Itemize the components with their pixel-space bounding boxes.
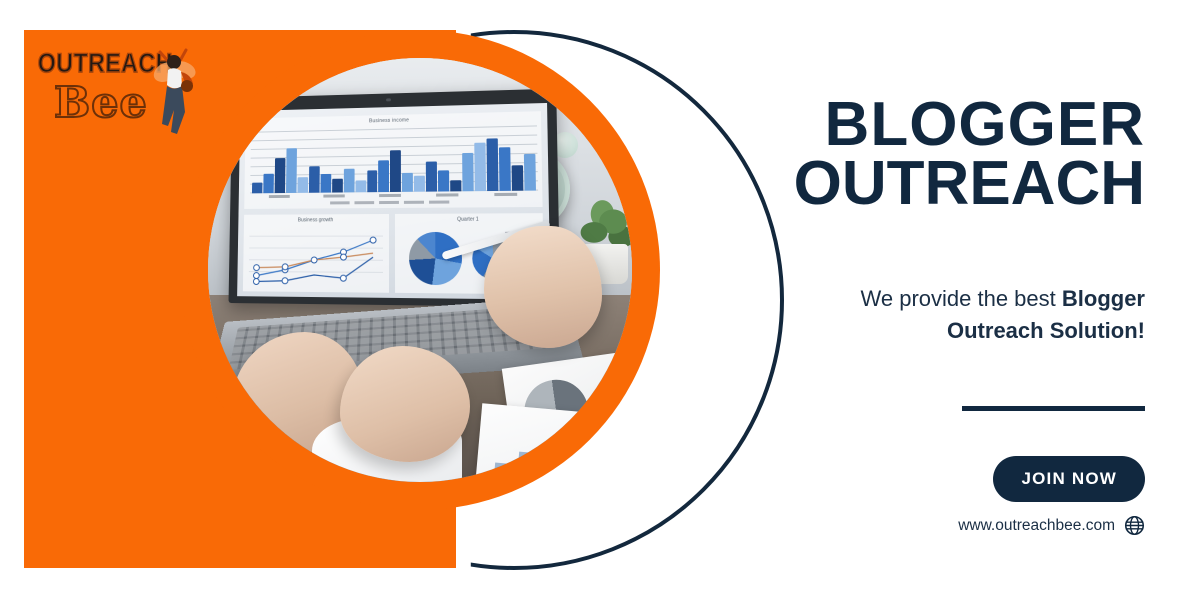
bar-chart-bar xyxy=(252,182,262,193)
promo-banner: OUTREACH Bee xyxy=(0,0,1200,600)
bar-chart-bar xyxy=(402,173,413,192)
right-hand-on-keyboard xyxy=(340,346,470,462)
bar-chart-bar xyxy=(438,170,449,191)
bar-chart-bar xyxy=(286,148,297,193)
bar-chart-bar xyxy=(499,147,511,191)
line-chart-business-growth: Business growth xyxy=(243,214,389,293)
bar-chart-bar xyxy=(309,166,320,193)
content-column: BLOGGER OUTREACH We provide the best Blo… xyxy=(760,0,1200,600)
laptop-webcam-icon xyxy=(386,98,391,101)
bar-chart-bar xyxy=(487,138,499,191)
desk-paper-report xyxy=(474,403,632,482)
bar-chart-bar xyxy=(367,170,378,192)
bar-chart-bar xyxy=(263,174,274,193)
bar-chart-bar xyxy=(297,177,308,193)
photo-scene: Business income Business growth xyxy=(208,58,632,482)
bar-chart-bar xyxy=(474,142,486,191)
bar-chart-bar xyxy=(450,180,461,191)
bar-chart-bars xyxy=(252,127,536,193)
bar-chart-bar xyxy=(332,179,343,193)
bar-chart-bar xyxy=(390,150,401,192)
bar-chart-legend xyxy=(244,200,542,209)
bar-chart-business-income: Business income xyxy=(244,111,542,209)
bar-chart-bar xyxy=(355,180,366,192)
divider xyxy=(962,406,1145,411)
join-now-button[interactable]: JOIN NOW xyxy=(993,456,1145,502)
website-url: www.outreachbee.com xyxy=(958,517,1115,535)
headline-line-2: OUTREACH xyxy=(705,155,1145,214)
pie-chart-primary xyxy=(409,232,462,285)
globe-icon xyxy=(1124,515,1145,536)
paper-bar-graphic xyxy=(494,437,607,482)
bar-chart-bar xyxy=(343,169,354,192)
bar-chart-bar xyxy=(320,174,331,192)
subheadline: We provide the best Blogger Outreach Sol… xyxy=(805,283,1145,347)
line-chart-title: Business growth xyxy=(244,217,389,224)
page-title: BLOGGER OUTREACH xyxy=(705,96,1145,214)
bar-chart-bar xyxy=(426,162,437,192)
website-row[interactable]: www.outreachbee.com xyxy=(958,515,1145,536)
pointing-hand xyxy=(484,226,602,348)
line-chart-svg xyxy=(243,214,389,293)
bar-chart-bar xyxy=(275,158,286,193)
bar-chart-bar xyxy=(512,165,524,190)
bar-chart-bar xyxy=(379,160,390,192)
bar-chart-bar xyxy=(414,176,425,192)
pie-chart-title: Quarter 1 xyxy=(395,216,543,223)
circular-photo-assembly: Business income Business growth xyxy=(150,16,750,586)
bar-chart-bar xyxy=(462,152,474,191)
logo-text-bee: Bee xyxy=(54,78,148,127)
subheadline-normal: We provide the best xyxy=(861,286,1062,311)
hero-photo: Business income Business growth xyxy=(208,58,632,482)
bar-chart-bar xyxy=(524,154,536,191)
